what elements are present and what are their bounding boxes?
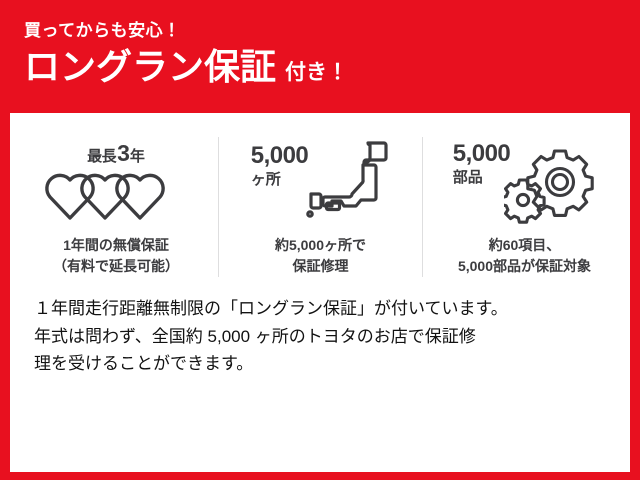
hearts-label-number: 3 [117,140,130,167]
parts-unit: 部品 [453,170,511,185]
long-run-warranty-card: 買ってからも安心！ ロングラン保証 付き！ 最長 3 年 [0,0,640,480]
page-title-suffix: 付き！ [285,56,348,86]
japan-map-icon [304,138,390,229]
feature-caption-warranty-period: 1年間の無償保証 （有料で延長可能） [53,235,179,277]
gears-icon [504,138,596,229]
feature-caption-line: 保証修理 [275,256,366,277]
feature-caption-line: 約5,000ヶ所で [275,235,366,256]
parts-number: 5,000 [453,142,511,166]
feature-caption-line: 5,000部品が保証対象 [458,256,591,277]
description-line: １年間走行距離無制限の「ロングラン保証」が付いています。 [34,295,608,323]
description-line: 理を受けることができます。 [34,350,608,378]
feature-panel-warranty-period: 最長 3 年 1年間の無償 [14,137,218,277]
feature-caption-line: 約60項目、 [458,235,591,256]
three-hearts-icon [41,169,191,226]
hearts-label-prefix: 最長 [87,145,116,166]
card-body: 最長 3 年 1年間の無償 [10,113,630,472]
parts-number-block: 5,000 部品 [453,142,511,185]
card-header: 買ってからも安心！ ロングラン保証 付き！ [10,0,630,113]
locations-unit: ヶ所 [251,172,309,187]
feature-visual-japan-map: 5,000 ヶ所 [225,137,416,229]
locations-number-block: 5,000 ヶ所 [251,144,309,187]
feature-panels: 最長 3 年 1年間の無償 [10,113,630,283]
header-kicker: 買ってからも安心！ [24,22,630,41]
feature-caption-service-locations: 約5,000ヶ所で 保証修理 [275,235,366,277]
page-title: ロングラン保証 [24,49,276,85]
description-line: 年式は問わず、全国約 5,000 ヶ所のトヨタのお店で保証修 [34,323,608,351]
feature-visual-gears: 5,000 部品 [429,137,620,229]
feature-panel-service-locations: 5,000 ヶ所 [218,137,422,277]
feature-caption-covered-parts: 約60項目、 5,000部品が保証対象 [458,235,591,277]
feature-caption-line: 1年間の無償保証 [53,235,179,256]
hearts-label: 最長 3 年 [87,140,145,167]
feature-panel-covered-parts: 5,000 部品 [422,137,626,277]
header-title-row: ロングラン保証 付き！ [24,49,630,86]
feature-visual-hearts: 最長 3 年 [20,137,212,229]
feature-caption-line: （有料で延長可能） [53,256,179,277]
hearts-label-unit: 年 [130,145,145,166]
description-text: １年間走行距離無制限の「ロングラン保証」が付いています。 年式は問わず、全国約 … [10,283,630,378]
locations-number: 5,000 [251,144,309,168]
